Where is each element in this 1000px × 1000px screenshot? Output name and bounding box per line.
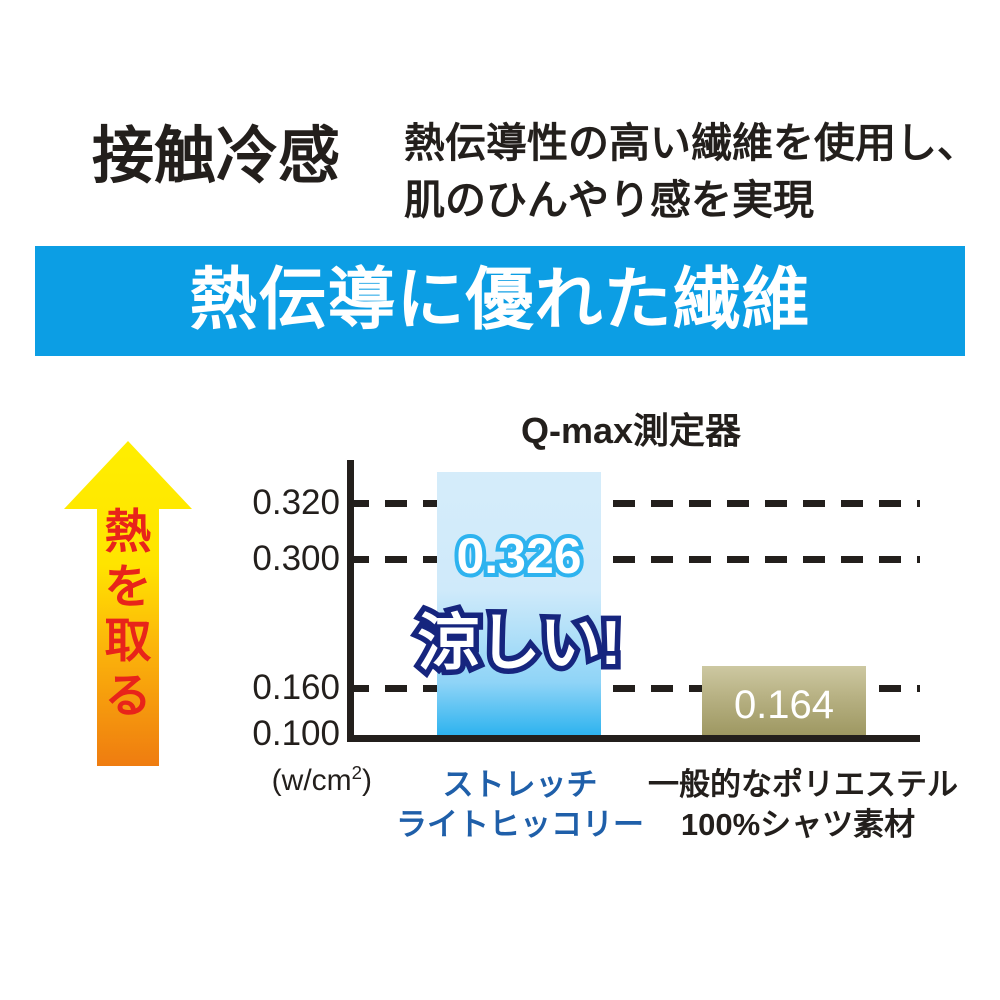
arrow-label-char-3: る [62, 669, 194, 724]
bar-value-label-1: 0.164 [702, 683, 866, 728]
x-category-label-0-line-2: ライトヒッコリー [385, 805, 655, 845]
arrow-label-char-1: を [62, 560, 194, 615]
gridline-0320 [347, 500, 920, 507]
gridline-0300 [347, 556, 920, 563]
infographic-page: 接触冷感 熱伝導性の高い繊維を使用し、 肌のひんやり感を実現 熱伝導に優れた繊維… [0, 0, 1000, 1000]
lead-line-2: 肌のひんやり感を実現 [404, 172, 984, 229]
arrow-label: 熱 を 取 る [62, 505, 194, 723]
highlight-banner: 熱伝導に優れた繊維 [35, 246, 965, 356]
chart-title: Q-max測定器 [131, 402, 1000, 454]
arrow-label-char-0: 熱 [62, 505, 194, 560]
x-axis-line [347, 735, 920, 742]
lead-paragraph: 熱伝導性の高い繊維を使用し、 肌のひんやり感を実現 [404, 115, 984, 228]
x-category-label-1: 一般的なポリエステル 100%シャツ素材 [648, 765, 948, 844]
arrow-label-char-2: 取 [62, 614, 194, 669]
bar-value-label-0: 0.326 [437, 527, 601, 585]
x-category-label-1-line-2: 100%シャツ素材 [648, 805, 948, 845]
x-category-label-1-line-1: 一般的なポリエステル [648, 765, 948, 805]
annotation-cool: 涼しい! [392, 592, 646, 682]
banner-text: 熱伝導に優れた繊維 [189, 266, 810, 334]
x-category-label-0: ストレッチ ライトヒッコリー [385, 765, 655, 844]
x-category-label-0-line-1: ストレッチ [385, 765, 655, 805]
lead-line-1: 熱伝導性の高い繊維を使用し、 [404, 115, 984, 172]
page-title: 接触冷感 [92, 126, 382, 188]
